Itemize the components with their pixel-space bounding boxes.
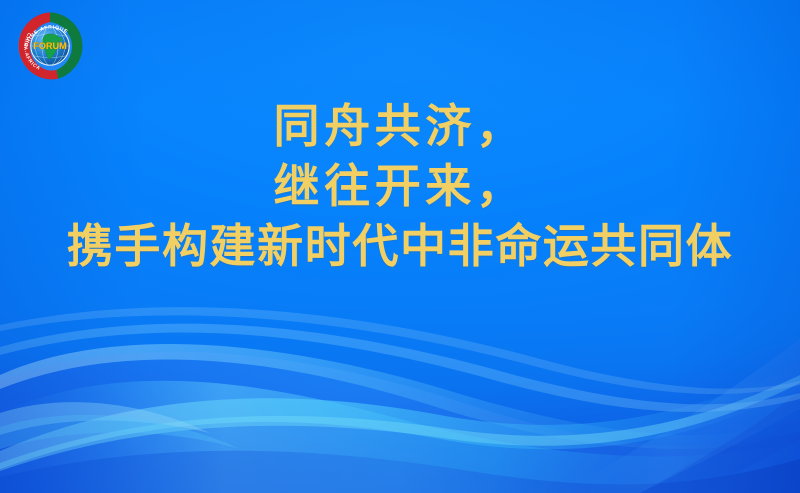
- svg-text:FORUM: FORUM: [33, 41, 67, 51]
- headline-line-3: 携手构建新时代中非命运共同体: [0, 224, 800, 270]
- focac-logo-icon[interactable]: FORUM CHINE-AFRIQUE CHINA-AFRICA: [10, 6, 90, 86]
- headline-line-1: 同舟共济，: [0, 104, 800, 150]
- headline-line-2: 继往开来，: [0, 164, 800, 210]
- focac-banner: FORUM CHINE-AFRIQUE CHINA-AFRICA 同舟共济， 继…: [0, 0, 800, 493]
- logo-forum-text: FORUM: [33, 41, 67, 51]
- headline-block: 同舟共济， 继往开来， 携手构建新时代中非命运共同体: [0, 104, 800, 270]
